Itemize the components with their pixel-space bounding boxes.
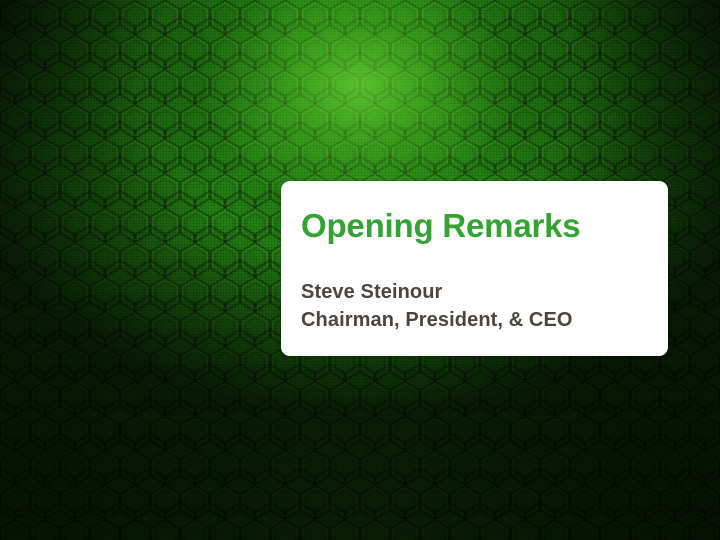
speaker-block: Steve Steinour Chairman, President, & CE… [301, 278, 668, 334]
slide-title: Opening Remarks [301, 207, 668, 245]
content-card: Opening Remarks Steve Steinour Chairman,… [281, 181, 668, 356]
speaker-role: Chairman, President, & CEO [301, 306, 668, 334]
speaker-name: Steve Steinour [301, 278, 668, 306]
presentation-slide: Opening Remarks Steve Steinour Chairman,… [0, 0, 720, 540]
